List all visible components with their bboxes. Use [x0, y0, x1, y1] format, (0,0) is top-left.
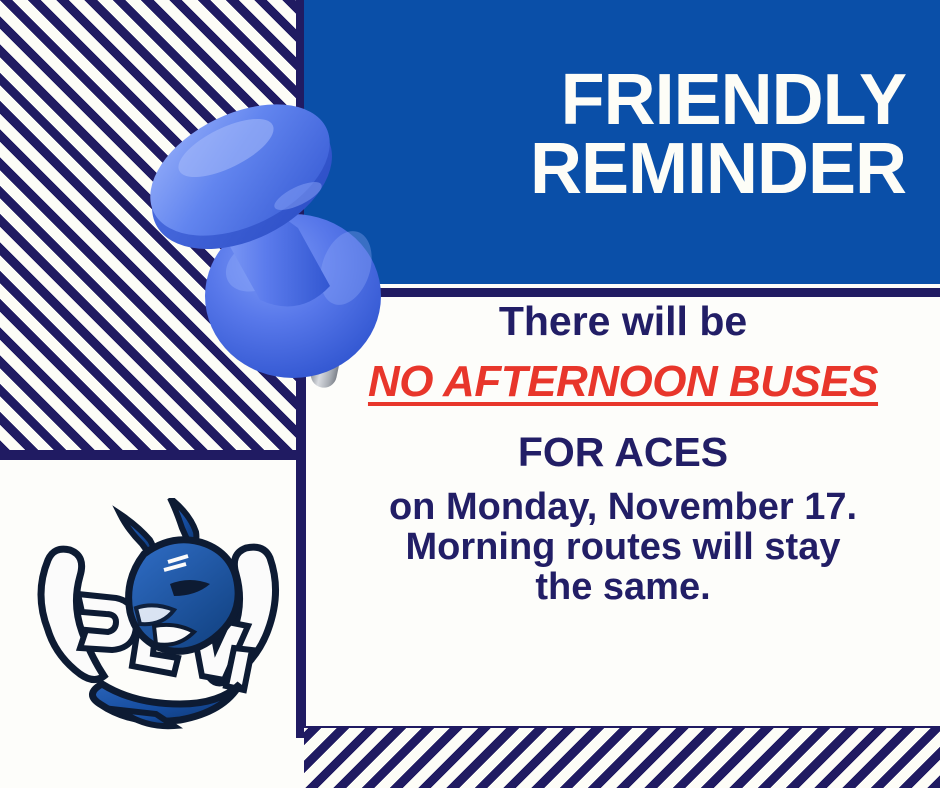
message-line-1: There will be [312, 300, 934, 343]
message-line-6: the same. [312, 567, 934, 607]
message-line-5: Morning routes will stay [312, 527, 934, 567]
vertical-divider-rule [296, 450, 306, 738]
title-line-1: FRIENDLY [561, 60, 906, 140]
message-highlight-no-afternoon-buses: NO AFTERNOON BUSES [312, 357, 934, 407]
message-body: There will be NO AFTERNOON BUSES FOR ACE… [312, 300, 934, 608]
message-line-4: on Monday, November 17. [312, 487, 934, 527]
blue-devils-mascot-logo [24, 498, 292, 730]
header-block: FRIENDLYREMINDER [304, 0, 940, 284]
announcement-poster: FRIENDLYREMINDER There will be NO AFTERN… [0, 0, 940, 788]
stripe-panel-bottom-border [0, 450, 306, 460]
diagonal-stripes-decoration-top-left [0, 0, 302, 453]
header-underline-bar [304, 288, 940, 297]
title-line-2: REMINDER [530, 135, 906, 204]
diagonal-stripes-decoration-bottom [304, 728, 940, 788]
message-line-3: FOR ACES [312, 431, 934, 474]
page-title: FRIENDLYREMINDER [530, 66, 906, 204]
